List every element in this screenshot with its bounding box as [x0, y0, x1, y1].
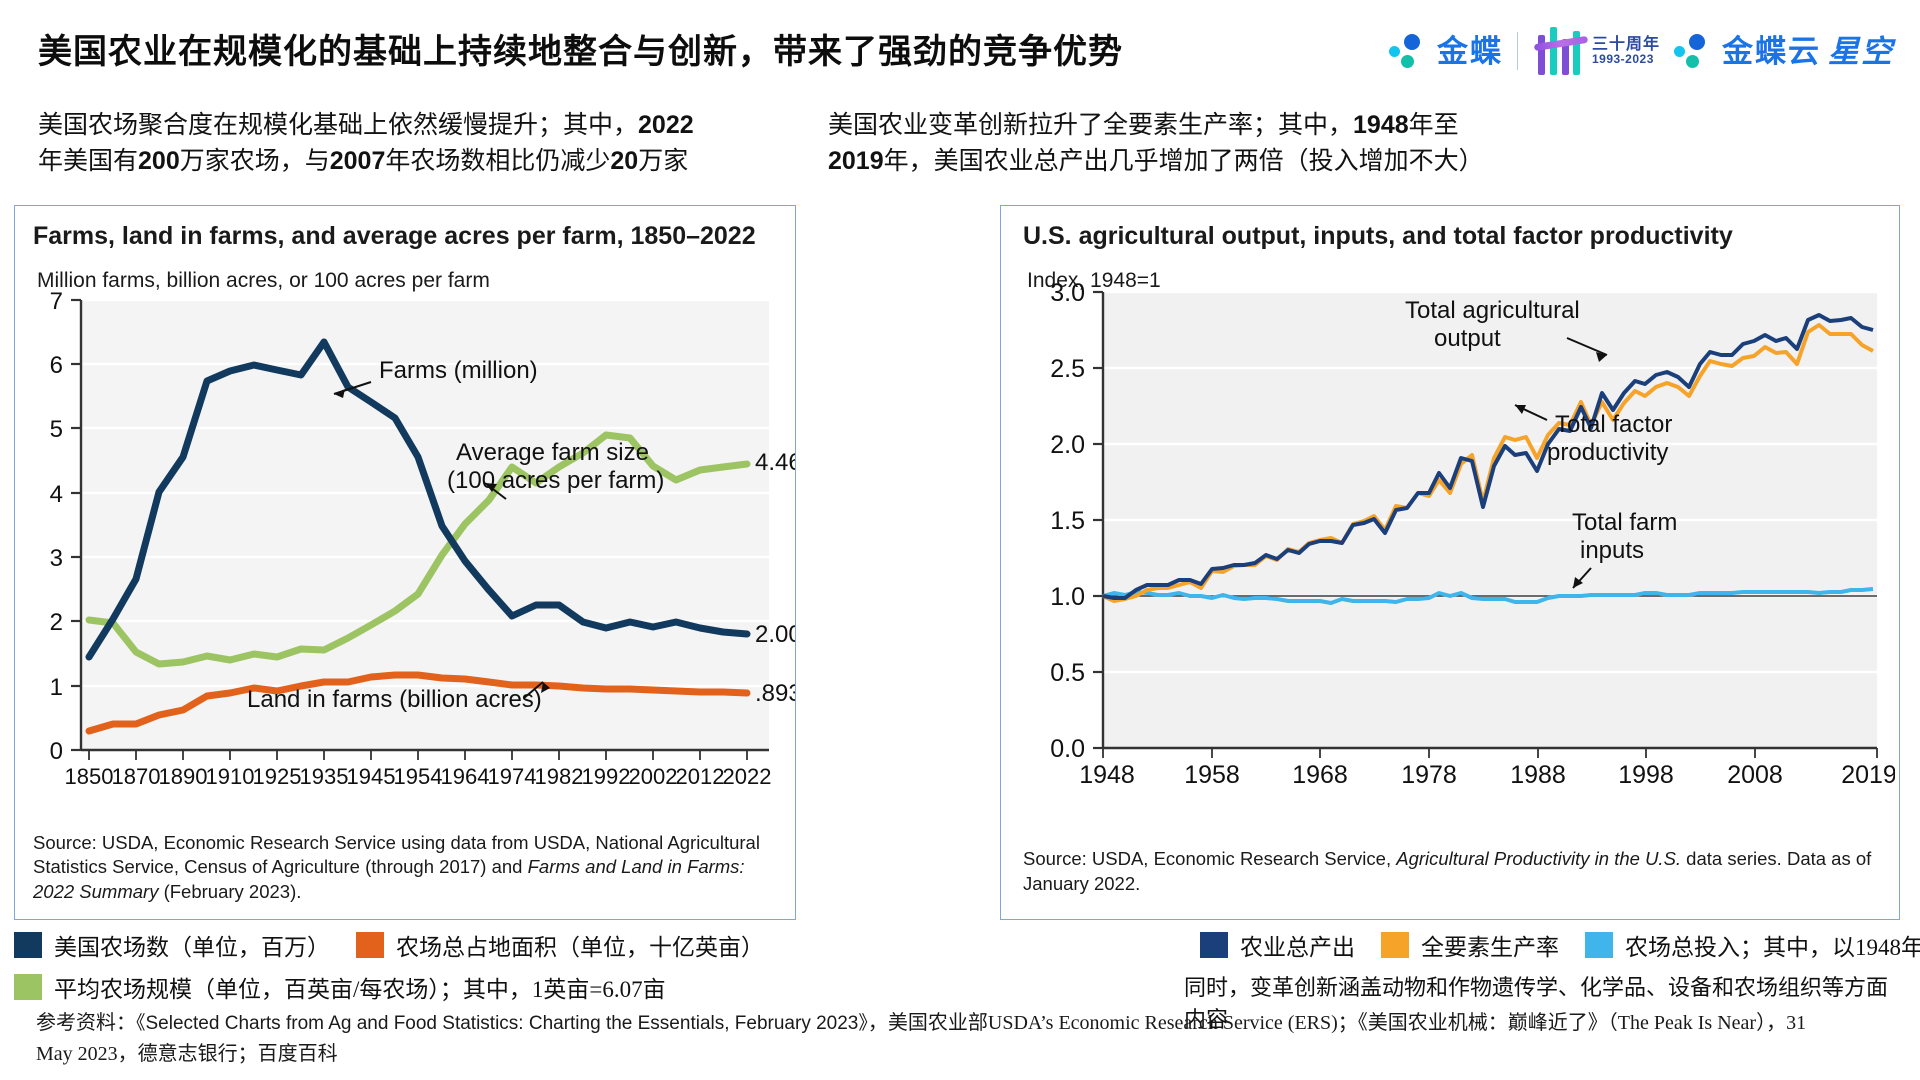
- legend-swatch-avg-size: [14, 974, 42, 1000]
- right-source-italic: Agricultural Productivity in the U.S.: [1396, 848, 1681, 869]
- svg-text:.893: .893: [755, 680, 795, 707]
- svg-text:1988: 1988: [1510, 761, 1566, 789]
- legend-item-farms-count: 美国农场数（单位，百万）: [14, 928, 330, 962]
- kingdee-cloud-dots-icon: [1674, 33, 1708, 69]
- svg-text:output: output: [1434, 325, 1501, 352]
- svg-text:2019: 2019: [1841, 761, 1895, 789]
- svg-text:4: 4: [50, 481, 63, 508]
- left-subtitle-value-20: 20: [610, 147, 638, 175]
- svg-text:1974: 1974: [488, 764, 537, 789]
- anniversary-label: 三十周年: [1592, 36, 1660, 54]
- kingdee-cloud-brand: 金蝶云 星空: [1722, 36, 1894, 67]
- svg-text:1992: 1992: [582, 764, 631, 789]
- footer-references: 参考资料：《Selected Charts from Ag and Food S…: [36, 1008, 1836, 1069]
- svg-text:1998: 1998: [1618, 761, 1674, 789]
- anniversary-years: 1993-2023: [1592, 53, 1660, 66]
- svg-text:2002: 2002: [629, 764, 678, 789]
- svg-text:0: 0: [50, 738, 63, 765]
- svg-text:1935: 1935: [300, 764, 349, 789]
- footer-prefix: 参考资料：: [36, 1012, 136, 1034]
- svg-text:inputs: inputs: [1580, 537, 1644, 564]
- svg-text:1978: 1978: [1401, 761, 1457, 789]
- svg-text:Farms (million): Farms (million): [379, 357, 538, 384]
- svg-text:2.00: 2.00: [755, 621, 795, 648]
- svg-text:2.0: 2.0: [1050, 431, 1085, 459]
- legend-label-total-output: 农业总产出: [1240, 928, 1355, 962]
- left-chart-legend: 美国农场数（单位，百万） 农场总占地面积（单位，十亿英亩） 平均农场规模（单位，…: [14, 928, 814, 1012]
- svg-text:2.5: 2.5: [1050, 355, 1085, 383]
- svg-text:1954: 1954: [394, 764, 443, 789]
- legend-label-farms-count: 美国农场数（单位，百万）: [54, 928, 330, 962]
- svg-text:7: 7: [50, 288, 63, 315]
- right-subtitle-line1: 美国农业变革创新拉升了全要素生产率；其中，: [828, 112, 1353, 139]
- svg-text:3: 3: [50, 545, 63, 572]
- svg-text:1958: 1958: [1184, 761, 1240, 789]
- kingdee-brand-text: 金蝶: [1437, 36, 1503, 67]
- left-chart-title: Farms, land in farms, and average acres …: [33, 222, 795, 251]
- kingdee-dots-icon: [1389, 33, 1423, 69]
- svg-text:1968: 1968: [1292, 761, 1348, 789]
- svg-text:1982: 1982: [535, 764, 584, 789]
- left-subtitle-line2b: 万家农场，与: [180, 148, 330, 175]
- legend-item-tfp: 全要素生产率: [1381, 928, 1559, 962]
- legend-item-avg-size: 平均农场规模（单位，百英亩/每农场）；其中，1英亩=6.07亩: [14, 970, 666, 1004]
- svg-text:2022: 2022: [723, 764, 772, 789]
- svg-text:2012: 2012: [676, 764, 725, 789]
- footer-ref-1-tail: ，美国农业部USDA’s Economic Research Service (…: [868, 1012, 1358, 1034]
- svg-text:1890: 1890: [159, 764, 208, 789]
- left-subtitle-value-200: 200: [138, 147, 180, 175]
- svg-text:1.5: 1.5: [1050, 507, 1085, 535]
- legend-item-total-output: 农业总产出: [1200, 928, 1355, 962]
- kingdee-cloud-suffix: 星空: [1828, 36, 1894, 67]
- anniversary-mark-icon: [1532, 27, 1586, 75]
- right-panel-subtitle: 美国农业变革创新拉升了全要素生产率；其中，1948年至 2019年，美国农业总产…: [828, 108, 1588, 179]
- left-chart-svg: 7 6 5 4 3 2 1 0: [19, 286, 795, 816]
- svg-text:1945: 1945: [347, 764, 396, 789]
- left-panel-subtitle: 美国农场聚合度在规模化基础上依然缓慢提升；其中，2022 年美国有200万家农场…: [38, 108, 798, 179]
- legend-label-avg-size: 平均农场规模（单位，百英亩/每农场）；其中，1英亩=6.07亩: [54, 970, 666, 1004]
- kingdee-logo-group: 金蝶 三十周年 1993-2023 金蝶云 星空: [1389, 26, 1894, 76]
- legend-label-tfp: 全要素生产率: [1421, 928, 1559, 962]
- svg-text:Land in farms (billion acres): Land in farms (billion acres): [247, 686, 542, 713]
- slide-root: 美国农业在规模化的基础上持续地整合与创新，带来了强劲的竞争优势 金蝶 三十周年 …: [0, 0, 1920, 1080]
- logo-divider: [1517, 32, 1518, 70]
- svg-text:2008: 2008: [1727, 761, 1783, 789]
- svg-text:4.46: 4.46: [755, 449, 795, 476]
- legend-label-total-inputs: 农场总投入；其中，以1948年为基数: [1625, 928, 1920, 962]
- right-chart-card: U.S. agricultural output, inputs, and to…: [1000, 205, 1900, 920]
- right-chart-svg: 3.0 2.5 2.0 1.5 1.0 0.5 0.0: [1007, 280, 1895, 820]
- svg-text:1870: 1870: [112, 764, 161, 789]
- right-subtitle-line1b: 年至: [1409, 112, 1459, 139]
- left-subtitle-line2c: 年农场数相比仍减少: [385, 148, 610, 175]
- legend-item-total-inputs: 农场总投入；其中，以1948年为基数: [1585, 928, 1920, 962]
- left-subtitle-line2a: 年美国有: [38, 148, 138, 175]
- kingdee-cloud-text: 金蝶云: [1722, 36, 1821, 67]
- svg-text:(100 acres per farm): (100 acres per farm): [447, 467, 664, 494]
- svg-text:Total agricultural: Total agricultural: [1405, 297, 1580, 324]
- left-subtitle-year-2007: 2007: [330, 147, 386, 175]
- svg-text:1925: 1925: [253, 764, 302, 789]
- left-chart-card: Farms, land in farms, and average acres …: [14, 205, 796, 920]
- right-chart-plot: 3.0 2.5 2.0 1.5 1.0 0.5 0.0: [1007, 280, 1895, 820]
- legend-swatch-tfp: [1381, 932, 1409, 958]
- svg-text:productivity: productivity: [1547, 439, 1668, 466]
- svg-text:1964: 1964: [441, 764, 490, 789]
- right-chart-title: U.S. agricultural output, inputs, and to…: [1023, 222, 1899, 251]
- anniversary-badge: 三十周年 1993-2023: [1532, 27, 1660, 75]
- left-subtitle-line1: 美国农场聚合度在规模化基础上依然缓慢提升；其中，: [38, 112, 638, 139]
- svg-text:1850: 1850: [65, 764, 114, 789]
- svg-text:5: 5: [50, 416, 63, 443]
- left-subtitle-line2d: 万家: [638, 148, 688, 175]
- left-chart-source: Source: USDA, Economic Research Service …: [33, 831, 781, 905]
- svg-text:3.0: 3.0: [1050, 280, 1085, 307]
- left-source-tail: (February 2023).: [158, 881, 301, 902]
- svg-text:Total farm: Total farm: [1572, 509, 1677, 536]
- footer-ref-1: 《Selected Charts from Ag and Food Statis…: [136, 1013, 868, 1034]
- legend-item-land-area: 农场总占地面积（单位，十亿英亩）: [356, 928, 764, 962]
- right-chart-source: Source: USDA, Economic Research Service,…: [1023, 847, 1885, 897]
- svg-text:6: 6: [50, 352, 63, 379]
- svg-text:0.5: 0.5: [1050, 659, 1085, 687]
- slide-header: 美国农业在规模化的基础上持续地整合与创新，带来了强劲的竞争优势 金蝶 三十周年 …: [0, 0, 1920, 96]
- svg-text:Average farm size: Average farm size: [456, 439, 649, 466]
- legend-swatch-farms-count: [14, 932, 42, 958]
- left-chart-plot: 7 6 5 4 3 2 1 0: [19, 286, 795, 816]
- left-subtitle-year-2022: 2022: [638, 111, 694, 139]
- right-subtitle-year-2019: 2019: [828, 147, 884, 175]
- svg-text:1.0: 1.0: [1050, 583, 1085, 611]
- right-subtitle-line2: 年，美国农业总产出几乎增加了两倍（投入增加不大）: [884, 148, 1484, 175]
- legend-swatch-total-output: [1200, 932, 1228, 958]
- svg-text:Total factor: Total factor: [1555, 411, 1672, 438]
- right-subtitle-year-1948: 1948: [1353, 111, 1409, 139]
- svg-text:2: 2: [50, 609, 63, 636]
- right-source-text: Source: USDA, Economic Research Service,: [1023, 848, 1396, 869]
- svg-text:1948: 1948: [1079, 761, 1135, 789]
- legend-swatch-total-inputs: [1585, 932, 1613, 958]
- page-title: 美国农业在规模化的基础上持续地整合与创新，带来了强劲的竞争优势: [38, 24, 1123, 73]
- legend-swatch-land-area: [356, 932, 384, 958]
- svg-text:1910: 1910: [206, 764, 255, 789]
- svg-text:0.0: 0.0: [1050, 735, 1085, 763]
- legend-label-land-area: 农场总占地面积（单位，十亿英亩）: [396, 928, 764, 962]
- svg-text:1: 1: [50, 674, 63, 701]
